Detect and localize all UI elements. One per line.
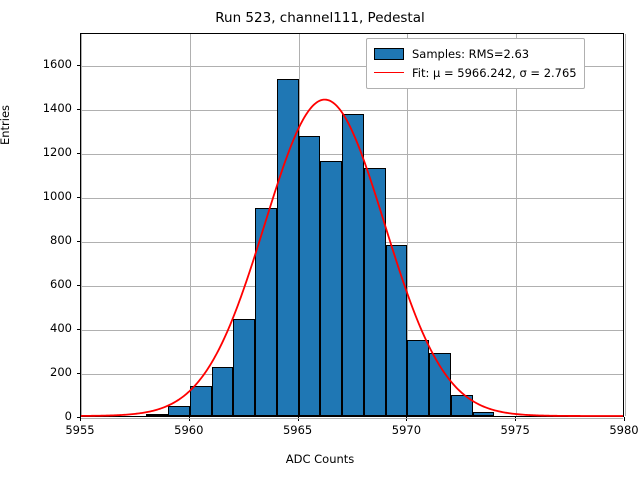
legend: Samples: RMS=2.63 Fit: μ = 5966.242, σ =…	[366, 38, 585, 89]
gridline-horizontal	[81, 418, 623, 419]
y-axis-label: Entries	[0, 65, 12, 185]
y-tick-label: 200	[50, 365, 72, 379]
legend-label-samples: Samples: RMS=2.63	[412, 47, 529, 61]
y-tick-label: 1600	[43, 57, 72, 71]
x-tick-label: 5965	[283, 423, 312, 437]
x-tick-mark	[624, 417, 625, 421]
y-tick-label: 400	[50, 321, 72, 335]
plot-area	[80, 33, 624, 417]
y-tick-label: 0	[65, 409, 72, 423]
y-tick-label: 800	[50, 233, 72, 247]
x-axis-label: ADC Counts	[0, 452, 640, 466]
x-tick-label: 5960	[174, 423, 203, 437]
chart-title: Run 523, channel111, Pedestal	[0, 10, 640, 26]
x-tick-label: 5980	[609, 423, 638, 437]
legend-swatch-samples	[374, 48, 404, 60]
y-tick-label: 1200	[43, 145, 72, 159]
legend-swatch-fit	[374, 72, 404, 73]
gridline-vertical	[625, 34, 626, 416]
gaussian-fit-curve	[81, 34, 623, 416]
x-tick-label: 5970	[392, 423, 421, 437]
x-tick-label: 5955	[65, 423, 94, 437]
x-tick-label: 5975	[501, 423, 530, 437]
legend-entry-samples: Samples: RMS=2.63	[374, 44, 577, 63]
y-tick-label: 1400	[43, 101, 72, 115]
y-tick-label: 1000	[43, 189, 72, 203]
figure: Run 523, channel111, Pedestal 0200400600…	[0, 0, 640, 480]
y-tick-label: 600	[50, 277, 72, 291]
legend-entry-fit: Fit: μ = 5966.242, σ = 2.765	[374, 63, 577, 82]
legend-label-fit: Fit: μ = 5966.242, σ = 2.765	[412, 66, 577, 80]
